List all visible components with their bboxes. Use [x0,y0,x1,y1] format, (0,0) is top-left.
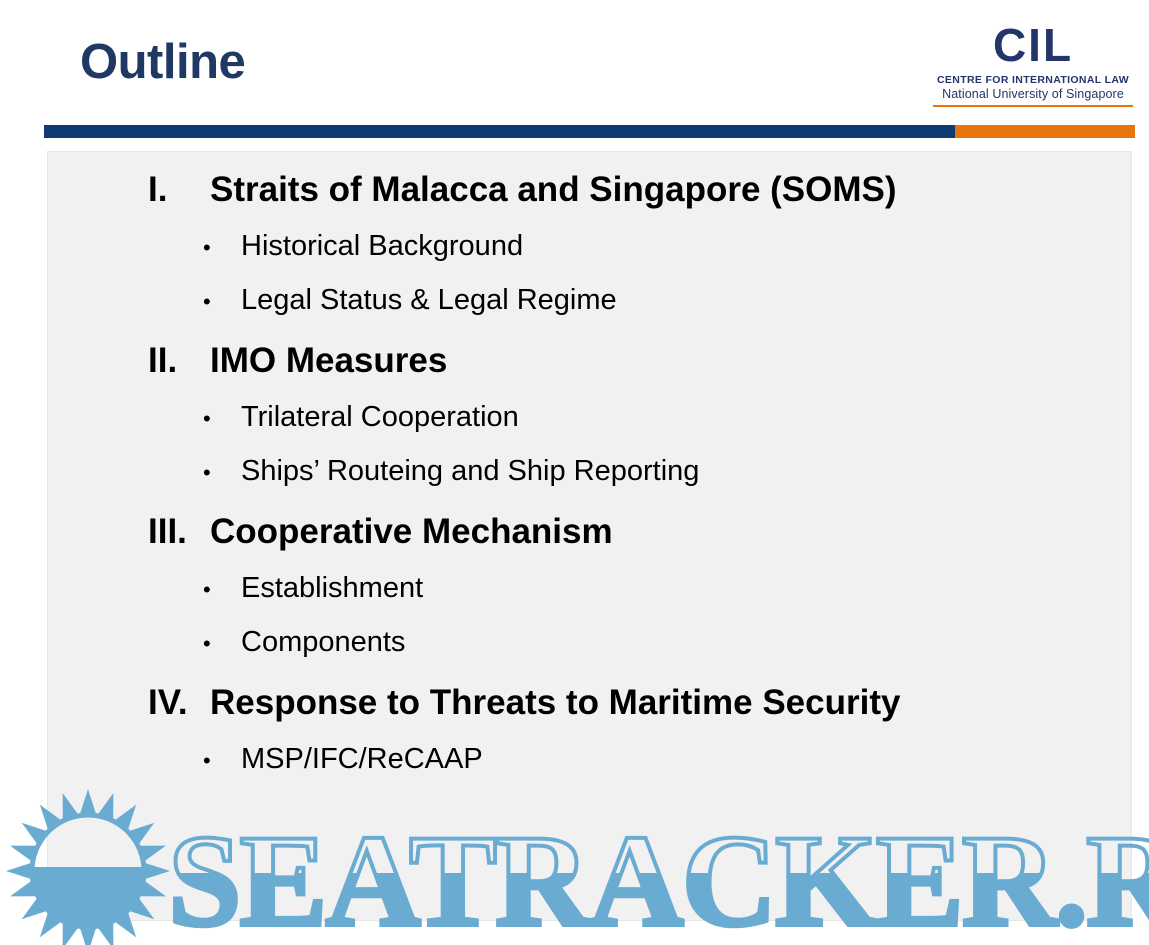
cil-logo-subtitle-secondary: National University of Singapore [933,87,1133,101]
bullet-icon: • [203,408,241,430]
bullet-icon: • [203,579,241,601]
outline-subitem: •Historical Background [148,232,1121,261]
outline-subitem: •Ships’ Routeing and Ship Reporting [148,457,1121,486]
outline-section-label: Response to Threats to Maritime Security [210,685,900,720]
slide: Outline CIL CENTRE FOR INTERNATIONAL LAW… [0,0,1149,945]
outline-subitem: •Legal Status & Legal Regime [148,286,1121,315]
outline-section-numeral: IV. [148,685,210,720]
outline-section-numeral: I. [148,172,210,207]
header-divider-navy-segment [44,125,955,138]
outline-subitem: •Establishment [148,574,1121,603]
outline-subitem-label: Components [241,628,405,657]
outline-subitem-label: Establishment [241,574,423,603]
bullet-icon: • [203,291,241,313]
outline-section-label: Cooperative Mechanism [210,514,613,549]
content-panel: I.Straits of Malacca and Singapore (SOMS… [48,152,1131,920]
cil-logo-mark: CIL [933,22,1133,69]
bullet-icon: • [203,237,241,259]
outline-subitem-label: Ships’ Routeing and Ship Reporting [241,457,699,486]
page-title: Outline [80,38,245,87]
header-divider-bar [44,125,1135,138]
cil-logo-rule [933,105,1133,107]
outline-section-label: Straits of Malacca and Singapore (SOMS) [210,172,897,207]
outline-section-label: IMO Measures [210,343,447,378]
outline-subitem: •Trilateral Cooperation [148,403,1121,432]
bullet-icon: • [203,633,241,655]
outline-subitem: •MSP/IFC/ReCAAP [148,745,1121,774]
outline-subitem-label: Historical Background [241,232,523,261]
outline-section-heading: III.Cooperative Mechanism [148,514,1121,549]
outline-section-numeral: II. [148,343,210,378]
outline-section-numeral: III. [148,514,210,549]
outline-section-heading: IV.Response to Threats to Maritime Secur… [148,685,1121,720]
header-divider-orange-segment [955,125,1135,138]
outline-subitem-label: Trilateral Cooperation [241,403,519,432]
outline-section-heading: II.IMO Measures [148,343,1121,378]
bullet-icon: • [203,462,241,484]
outline-subitem-label: MSP/IFC/ReCAAP [241,745,483,774]
cil-logo: CIL CENTRE FOR INTERNATIONAL LAW Nationa… [933,22,1133,107]
bullet-icon: • [203,750,241,772]
outline-subitem-label: Legal Status & Legal Regime [241,286,617,315]
cil-logo-subtitle-primary: CENTRE FOR INTERNATIONAL LAW [933,74,1133,86]
outline-list: I.Straits of Malacca and Singapore (SOMS… [148,172,1121,774]
outline-section-heading: I.Straits of Malacca and Singapore (SOMS… [148,172,1121,207]
outline-subitem: •Components [148,628,1121,657]
